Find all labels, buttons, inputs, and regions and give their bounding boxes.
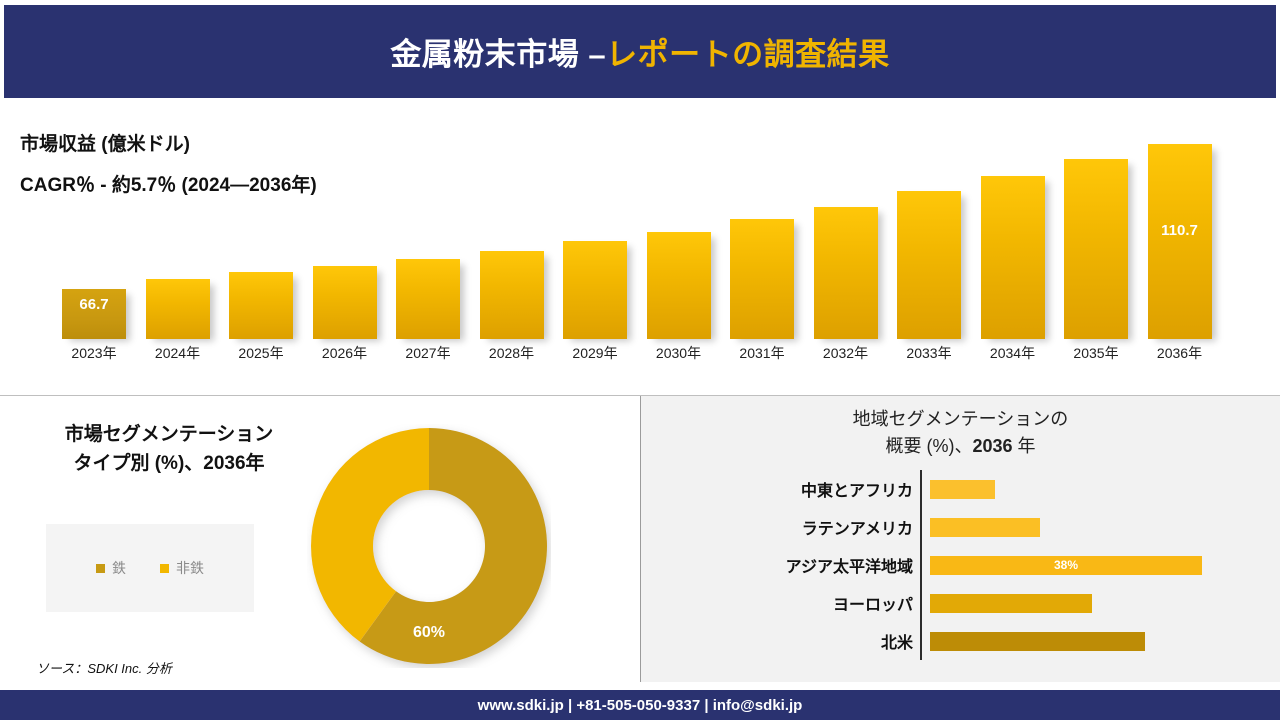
revenue-x-label: 2032年 — [801, 343, 891, 363]
revenue-x-label: 2033年 — [884, 343, 974, 363]
regional-title-line1: 地域セグメンテーションの — [641, 406, 1280, 433]
revenue-x-label: 2025年 — [216, 343, 306, 363]
legend-item-ferrous[interactable]: 鉄 — [96, 558, 126, 578]
region-bar-rect — [930, 632, 1145, 651]
legend-swatch-nonferrous — [160, 564, 169, 573]
region-bar-rect — [930, 480, 995, 499]
revenue-bar-rect — [814, 207, 878, 339]
revenue-bar-value: 110.7 — [1148, 222, 1212, 239]
revenue-bar-rect — [897, 191, 961, 339]
type-segmentation-title-line2: タイプ別 (%)、2036年 — [44, 449, 294, 478]
revenue-bar-rect — [730, 219, 794, 339]
legend-label-nonferrous: 非鉄 — [176, 558, 204, 578]
revenue-bar-2024年[interactable] — [146, 279, 210, 339]
revenue-x-label: 2028年 — [467, 343, 557, 363]
revenue-x-label: 2030年 — [634, 343, 724, 363]
revenue-bar-rect — [146, 279, 210, 339]
region-label: アジア太平洋地域 — [641, 553, 922, 577]
page-title-accent: レポートの調査結果 — [606, 37, 890, 72]
region-bar-rect — [930, 594, 1092, 613]
type-segmentation-title-line1: 市場セグメンテーション — [44, 420, 294, 449]
region-row-ヨーロッパ[interactable]: ヨーロッパ — [641, 584, 1280, 622]
revenue-bar-rect: 110.7 — [1148, 144, 1212, 339]
revenue-bar-2023年[interactable]: 66.7 — [62, 289, 126, 339]
region-label: 北米 — [641, 629, 922, 653]
revenue-bar-2033年[interactable] — [897, 191, 961, 339]
page-title: 金属粉末市場 –レポートの調査結果 — [390, 29, 889, 74]
revenue-bar-2029年[interactable] — [563, 241, 627, 339]
region-bar-value: 38% — [1054, 558, 1078, 572]
revenue-bar-rect — [396, 259, 460, 339]
region-row-ラテンアメリカ[interactable]: ラテンアメリカ — [641, 508, 1280, 546]
revenue-x-label: 2034年 — [968, 343, 1058, 363]
type-segmentation-panel: 市場セグメンテーション タイプ別 (%)、2036年 鉄 非鉄 — [0, 396, 641, 682]
donut-chart-svg — [307, 424, 551, 668]
legend-item-nonferrous[interactable]: 非鉄 — [160, 558, 204, 578]
revenue-bar-2027年[interactable] — [396, 259, 460, 339]
revenue-x-label: 2031年 — [717, 343, 807, 363]
region-row-中東とアフリカ[interactable]: 中東とアフリカ — [641, 470, 1280, 508]
revenue-x-label: 2024年 — [133, 343, 223, 363]
region-label: 中東とアフリカ — [641, 477, 922, 501]
revenue-bar-rect — [563, 241, 627, 339]
region-label: ラテンアメリカ — [641, 515, 922, 539]
region-row-アジア太平洋地域[interactable]: アジア太平洋地域38% — [641, 546, 1280, 584]
regional-title-pre: 概要 (%)、 — [885, 436, 972, 456]
donut-legend: 鉄 非鉄 — [46, 524, 254, 612]
revenue-bar-value: 66.7 — [62, 296, 126, 313]
revenue-bar-2036年[interactable]: 110.7 — [1148, 144, 1212, 339]
source-note: ソース：SDKI Inc. 分析 — [36, 658, 172, 677]
regional-title-year: 2036 — [972, 436, 1012, 456]
regional-segmentation-panel: 地域セグメンテーションの 概要 (%)、2036 年 中東とアフリカラテンアメリ… — [641, 396, 1280, 682]
revenue-bar-2035年[interactable] — [1064, 159, 1128, 339]
revenue-bar-2026年[interactable] — [313, 266, 377, 339]
revenue-bar-2030年[interactable] — [647, 232, 711, 339]
revenue-bar-rect — [1064, 159, 1128, 339]
regional-title-post: 年 — [1013, 436, 1036, 456]
revenue-x-label: 2035年 — [1051, 343, 1141, 363]
revenue-x-label: 2029年 — [550, 343, 640, 363]
market-revenue-chart-panel: 市場収益 (億米ドル) CAGR％ - 約5.7％ (2024―2036年) 6… — [0, 99, 1280, 396]
regional-segmentation-title: 地域セグメンテーションの 概要 (%)、2036 年 — [641, 406, 1280, 460]
region-bar-rect: 38% — [930, 556, 1202, 575]
legend-swatch-ferrous — [96, 564, 105, 573]
revenue-bar-2031年[interactable] — [730, 219, 794, 339]
revenue-bar-2028年[interactable] — [480, 251, 544, 339]
page-footer: www.sdki.jp | +81-505-050-9337 | info@sd… — [0, 690, 1280, 720]
revenue-bar-rect — [229, 272, 293, 339]
revenue-x-label: 2027年 — [383, 343, 473, 363]
region-label: ヨーロッパ — [641, 591, 922, 615]
revenue-x-label: 2023年 — [49, 343, 139, 363]
page-header: 金属粉末市場 –レポートの調査結果 — [4, 5, 1276, 98]
revenue-bar-rect: 66.7 — [62, 289, 126, 339]
revenue-bar-2025年[interactable] — [229, 272, 293, 339]
footer-contact-text: www.sdki.jp | +81-505-050-9337 | info@sd… — [478, 697, 803, 714]
revenue-bar-rect — [647, 232, 711, 339]
revenue-bar-rect — [981, 176, 1045, 339]
regional-title-line2: 概要 (%)、2036 年 — [641, 433, 1280, 460]
revenue-bar-rect — [480, 251, 544, 339]
page-title-main: 金属粉末市場 – — [390, 37, 606, 72]
revenue-bar-2032年[interactable] — [814, 207, 878, 339]
revenue-bar-rect — [313, 266, 377, 339]
infographic-page: 金属粉末市場 –レポートの調査結果 市場収益 (億米ドル) CAGR％ - 約5… — [0, 0, 1280, 720]
revenue-bar-2034年[interactable] — [981, 176, 1045, 339]
revenue-x-label: 2036年 — [1135, 343, 1225, 363]
revenue-x-label: 2026年 — [300, 343, 390, 363]
revenue-bars-area: 66.72023年2024年2025年2026年2027年2028年2029年2… — [0, 99, 1280, 395]
legend-label-ferrous: 鉄 — [112, 558, 126, 578]
donut-chart: 60% — [307, 424, 551, 668]
type-segmentation-title: 市場セグメンテーション タイプ別 (%)、2036年 — [44, 420, 294, 479]
region-bar-rect — [930, 518, 1040, 537]
region-row-北米[interactable]: 北米 — [641, 622, 1280, 660]
regional-bars-area: 中東とアフリカラテンアメリカアジア太平洋地域38%ヨーロッパ北米 — [641, 470, 1280, 660]
